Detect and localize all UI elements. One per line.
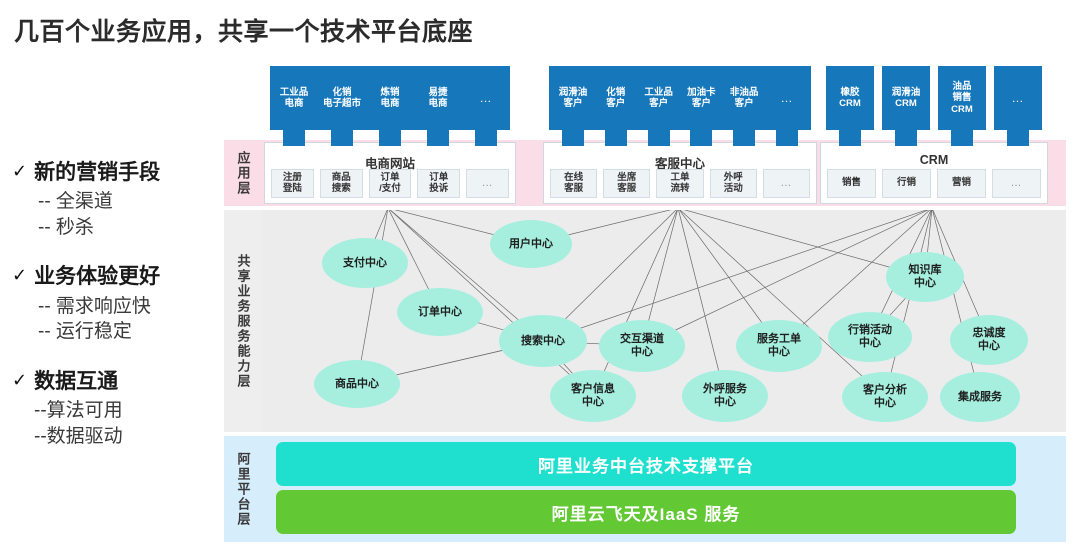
application-chip[interactable]: 行销 [882, 169, 931, 198]
application-chip[interactable]: 坐席客服 [603, 169, 650, 198]
chip-more[interactable]: … [763, 169, 810, 198]
service-center-label: 支付中心 [343, 257, 387, 270]
business-app-box[interactable]: 工业品客户 [635, 66, 683, 130]
blue-box-stem [951, 130, 973, 146]
business-app-box[interactable]: 易捷电商 [414, 66, 462, 130]
application-chip[interactable]: 销售 [827, 169, 876, 198]
application-chip[interactable]: 在线客服 [550, 169, 597, 198]
bullet-subitem: -- 秒杀 [38, 215, 217, 241]
business-app-box[interactable]: 非油品客户 [720, 66, 768, 130]
connector-line [678, 210, 725, 396]
bullet-subitem: -- 全渠道 [38, 189, 217, 215]
blue-box-more[interactable]: … [763, 66, 811, 130]
bullet-heading-label: 业务体验更好 [34, 264, 160, 289]
service-center-node[interactable]: 外呼服务中心 [682, 370, 768, 422]
application-chip[interactable]: 外呼活动 [710, 169, 757, 198]
service-center-node[interactable]: 客户信息中心 [550, 370, 636, 422]
layer-label-application: 应用层 [224, 140, 262, 206]
service-center-node[interactable]: 订单中心 [397, 288, 483, 336]
bullet-subitem: --算法可用 [34, 398, 217, 424]
blue-box-stem [283, 130, 305, 146]
service-center-label: 知识库中心 [909, 264, 942, 290]
blue-box-stem [733, 130, 755, 146]
service-center-node[interactable]: 客户分析中心 [842, 372, 928, 422]
blue-box-stem [562, 130, 584, 146]
check-icon: ✓ [12, 264, 27, 287]
business-app-box[interactable]: 橡胶CRM [826, 66, 874, 130]
chip-more[interactable]: … [992, 169, 1041, 198]
ali-middle-platform-bar[interactable]: 阿里业务中台技术支撑平台 [276, 442, 1016, 486]
page-title: 几百个业务应用，共享一个技术平台底座 [14, 12, 473, 48]
chip-more[interactable]: … [466, 169, 509, 198]
business-app-box[interactable]: 化销电子超市 [318, 66, 366, 130]
blue-box-stem [690, 130, 712, 146]
layer-label-ali: 阿里平台层 [224, 436, 262, 542]
blue-box-stem [839, 130, 861, 146]
business-app-box[interactable]: 润滑油CRM [882, 66, 930, 130]
blue-box-more[interactable]: … [994, 66, 1042, 130]
service-center-node[interactable]: 商品中心 [314, 360, 400, 408]
blue-box-stem [605, 130, 627, 146]
connector-line [357, 210, 388, 384]
service-center-label: 集成服务 [958, 391, 1002, 404]
application-chip-row: 注册登陆商品搜索订单/支付订单投诉… [271, 169, 509, 198]
check-icon: ✓ [12, 160, 27, 183]
bullet-group: ✓新的营销手段-- 全渠道-- 秒杀 [12, 160, 217, 240]
application-chip[interactable]: 商品搜索 [320, 169, 363, 198]
business-app-box[interactable]: 加油卡客户 [677, 66, 725, 130]
blue-box-stem [895, 130, 917, 146]
business-app-box[interactable]: 工业品电商 [270, 66, 318, 130]
service-center-node[interactable]: 服务工单中心 [736, 320, 822, 372]
service-center-node[interactable]: 支付中心 [322, 238, 408, 288]
service-center-node[interactable]: 交互渠道中心 [599, 320, 685, 372]
slide-root: 几百个业务应用，共享一个技术平台底座 ✓新的营销手段-- 全渠道-- 秒杀✓业务… [0, 0, 1080, 550]
application-panel[interactable]: CRM销售行销营销… [820, 142, 1048, 204]
blue-box-stem [331, 130, 353, 146]
bullet-subitem: -- 运行稳定 [38, 319, 217, 345]
application-panel[interactable]: 客服中心在线客服坐席客服工单流转外呼活动… [543, 142, 817, 204]
blue-box-stem [648, 130, 670, 146]
application-chip-row: 在线客服坐席客服工单流转外呼活动… [550, 169, 810, 198]
service-center-label: 订单中心 [418, 306, 462, 319]
service-center-label: 搜索中心 [521, 335, 565, 348]
application-chip[interactable]: 订单/支付 [369, 169, 412, 198]
blue-box-stem [427, 130, 449, 146]
application-panel-title: CRM [821, 153, 1047, 167]
service-center-label: 交互渠道中心 [620, 333, 664, 359]
bullet-subitem: --数据驱动 [34, 424, 217, 450]
shared-service-layer: 支付中心用户中心订单中心商品中心搜索中心交互渠道中心客户信息中心外呼服务中心服务… [262, 210, 1066, 432]
application-chip[interactable]: 订单投诉 [417, 169, 460, 198]
architecture-diagram: 应用层 共享业务服务能力层 阿里平台层 电商网站注册登陆商品搜索订单/支付订单投… [224, 66, 1066, 544]
service-center-label: 客户信息中心 [571, 383, 615, 409]
application-chip[interactable]: 营销 [937, 169, 986, 198]
application-chip-row: 销售行销营销… [827, 169, 1041, 198]
service-center-label: 外呼服务中心 [703, 383, 747, 409]
connector-line [932, 210, 980, 397]
layer-label-shared: 共享业务服务能力层 [224, 210, 262, 432]
service-center-label: 忠诚度中心 [973, 327, 1006, 353]
service-center-node[interactable]: 知识库中心 [886, 252, 964, 302]
bullet-heading: ✓新的营销手段 [12, 160, 217, 185]
service-center-label: 行销活动中心 [848, 324, 892, 350]
service-center-node[interactable]: 集成服务 [940, 372, 1020, 422]
service-center-label: 客户分析中心 [863, 384, 907, 410]
blue-box-stem [379, 130, 401, 146]
application-chip[interactable]: 工单流转 [656, 169, 703, 198]
bullet-subitem: -- 需求响应快 [38, 294, 217, 320]
service-center-node[interactable]: 用户中心 [490, 220, 572, 268]
service-center-label: 用户中心 [509, 238, 553, 251]
bullet-heading: ✓数据互通 [12, 369, 217, 394]
blue-box-stem [1007, 130, 1029, 146]
business-app-box[interactable]: 润滑油客户 [549, 66, 597, 130]
bullet-group: ✓数据互通--算法可用--数据驱动 [12, 369, 217, 449]
bullet-list: ✓新的营销手段-- 全渠道-- 秒杀✓业务体验更好-- 需求响应快-- 运行稳定… [12, 160, 217, 473]
bullet-heading: ✓业务体验更好 [12, 264, 217, 289]
service-center-label: 服务工单中心 [757, 333, 801, 359]
blue-box-more[interactable]: … [462, 66, 510, 130]
ali-iaas-bar[interactable]: 阿里云飞天及IaaS 服务 [276, 490, 1016, 534]
service-center-node[interactable]: 忠诚度中心 [950, 315, 1028, 365]
blue-box-stem [776, 130, 798, 146]
bullet-group: ✓业务体验更好-- 需求响应快-- 运行稳定 [12, 264, 217, 344]
application-chip[interactable]: 注册登陆 [271, 169, 314, 198]
service-center-node[interactable]: 搜索中心 [499, 315, 587, 367]
check-icon: ✓ [12, 369, 27, 392]
business-app-box[interactable]: 化销客户 [592, 66, 640, 130]
service-center-label: 商品中心 [335, 378, 379, 391]
bullet-heading-label: 数据互通 [34, 369, 118, 394]
business-app-box[interactable]: 油品销售CRM [938, 66, 986, 130]
business-app-box[interactable]: 炼销电商 [366, 66, 414, 130]
service-center-node[interactable]: 行销活动中心 [828, 312, 912, 362]
connector-line [885, 210, 932, 397]
application-panel[interactable]: 电商网站注册登陆商品搜索订单/支付订单投诉… [264, 142, 516, 204]
blue-box-stem [475, 130, 497, 146]
bullet-heading-label: 新的营销手段 [34, 160, 160, 185]
